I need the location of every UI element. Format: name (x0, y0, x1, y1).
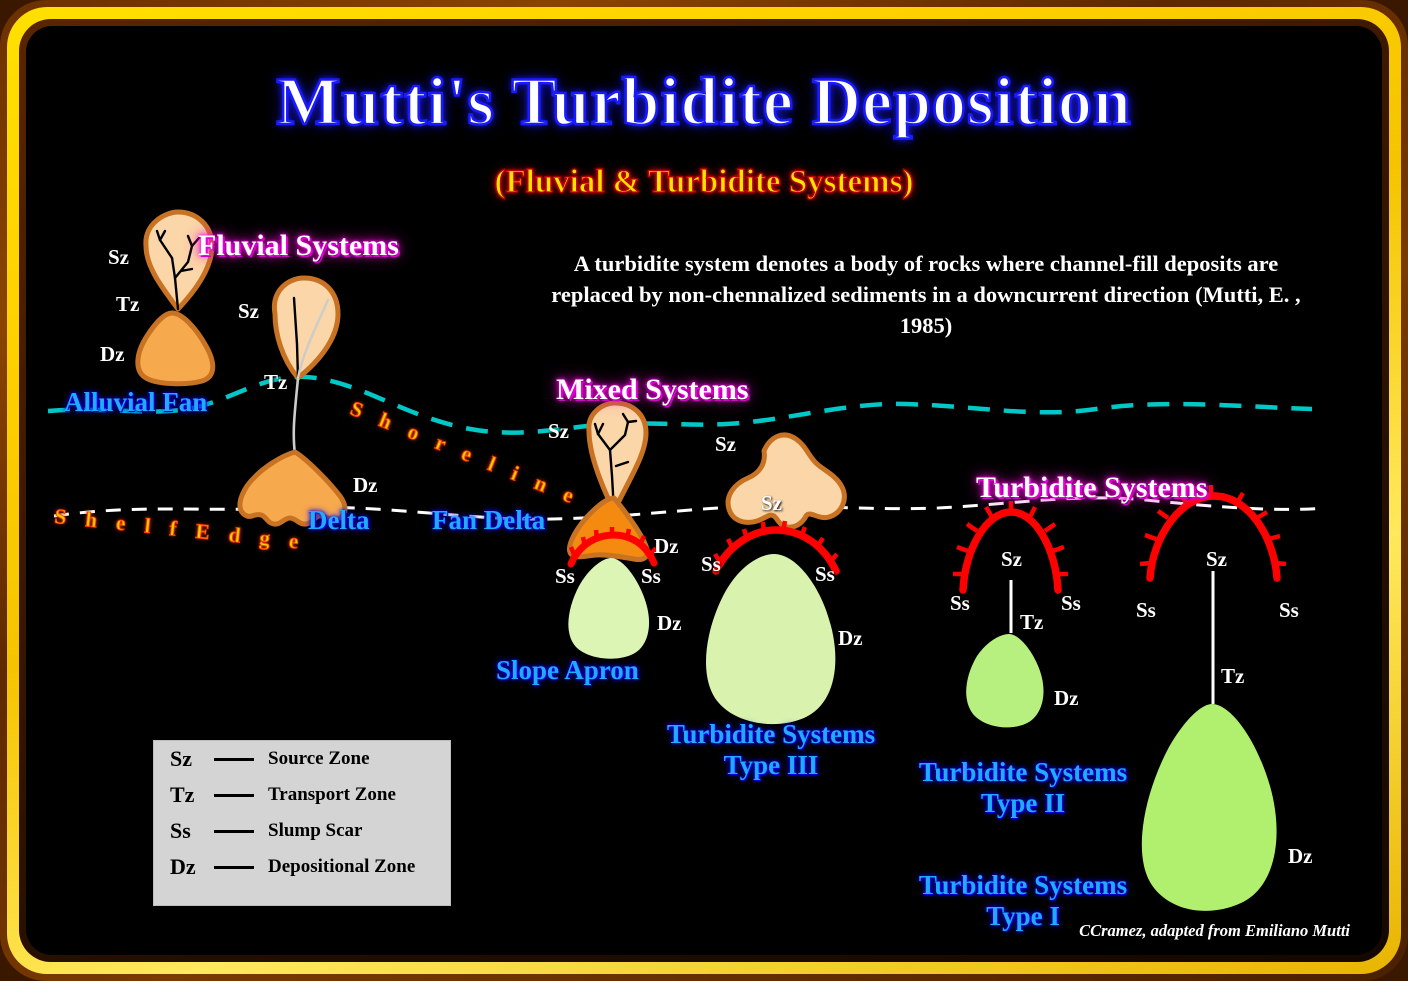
legend-dash-icon (214, 866, 254, 869)
tag-ss-type2-right: Ss (1061, 591, 1081, 616)
type2-slump-scar (953, 501, 1068, 590)
label-type1-line1: Turbidite Systems (888, 870, 1158, 901)
tag-ss-type1-right: Ss (1279, 598, 1299, 623)
legend-row: Ss Slump Scar (154, 813, 450, 849)
label-type3-line1: Turbidite Systems (636, 719, 906, 750)
tag-sz-fan-delta: Sz (548, 419, 569, 444)
alluvial-fan-deposition-zone (138, 313, 213, 384)
tag-ss-type3-left: Ss (701, 552, 721, 577)
credit-line: CCramez, adapted from Emiliano Mutti (1079, 921, 1350, 941)
legend-label: Slump Scar (268, 820, 363, 842)
legend-dash-icon (214, 794, 254, 797)
type2-deposition-zone (966, 634, 1043, 727)
label-type2-line1: Turbidite Systems (888, 757, 1158, 788)
tag-ss-type1-left: Ss (1136, 598, 1156, 623)
legend-row: Sz Source Zone (154, 741, 450, 777)
tag-tz-alluvial-fan: Tz (116, 292, 139, 317)
legend-key: Dz (170, 854, 212, 880)
fan-delta-source-zone (589, 403, 646, 511)
tag-dz-type2: Dz (1054, 686, 1079, 711)
label-type3-line2: Type III (636, 750, 906, 781)
tag-ss-fan-delta-left: Ss (555, 564, 575, 589)
delta-transport-channel (294, 378, 298, 454)
diagram-canvas: Mutti's Turbidite Deposition (Fluvial & … (26, 26, 1382, 955)
poster-frame: Mutti's Turbidite Deposition (Fluvial & … (0, 0, 1408, 981)
label-type2-line2: Type II (888, 788, 1158, 819)
legend-label: Source Zone (268, 748, 370, 770)
legend-row: Dz Depositional Zone (154, 849, 450, 885)
tag-ss-fan-delta-right: Ss (641, 564, 661, 589)
tag-sz-type1: Sz (1206, 547, 1227, 572)
legend-row: Tz Transport Zone (154, 777, 450, 813)
legend-label: Transport Zone (268, 784, 396, 806)
tag-sz-type3-inner: Sz (761, 491, 782, 516)
label-delta: Delta (308, 505, 369, 536)
type1-deposition-zone (1142, 704, 1277, 911)
tag-sz-type3-outer: Sz (715, 432, 736, 457)
slope-apron-deposition-zone (568, 558, 649, 659)
label-fan-delta: Fan Delta (432, 505, 545, 536)
label-alluvial-fan: Alluvial Fan (64, 387, 207, 418)
tag-tz-type2: Tz (1020, 610, 1043, 635)
tag-sz-type2: Sz (1001, 547, 1022, 572)
label-slope-apron: Slope Apron (496, 655, 639, 686)
heading-mixed-systems: Mixed Systems (556, 373, 748, 407)
type3-source-zone (728, 435, 844, 527)
legend-key: Tz (170, 782, 212, 808)
delta-source-zone (274, 278, 338, 378)
tag-ss-type2-left: Ss (950, 591, 970, 616)
tag-tz-type1: Tz (1221, 664, 1244, 689)
tag-dz-fan-delta: Dz (654, 534, 679, 559)
legend-box: Sz Source Zone Tz Transport Zone Ss Slum… (153, 740, 451, 906)
tag-tz-delta: Tz (264, 370, 287, 395)
legend-dash-icon (214, 758, 254, 761)
tag-ss-type3-right: Ss (815, 562, 835, 587)
heading-turbidite-systems: Turbidite Systems (976, 471, 1207, 505)
legend-label: Depositional Zone (268, 856, 415, 878)
legend-dash-icon (214, 830, 254, 833)
legend-key: Sz (170, 746, 212, 772)
tag-dz-alluvial-fan: Dz (100, 342, 125, 367)
heading-fluvial-systems: Fluvial Systems (198, 229, 399, 263)
tag-dz-type1: Dz (1288, 844, 1313, 869)
tag-dz-slope-apron: Dz (657, 611, 682, 636)
tag-dz-type3: Dz (838, 626, 863, 651)
tag-sz-alluvial-fan: Sz (108, 245, 129, 270)
tag-dz-delta: Dz (353, 473, 378, 498)
tag-sz-delta: Sz (238, 299, 259, 324)
legend-key: Ss (170, 818, 212, 844)
